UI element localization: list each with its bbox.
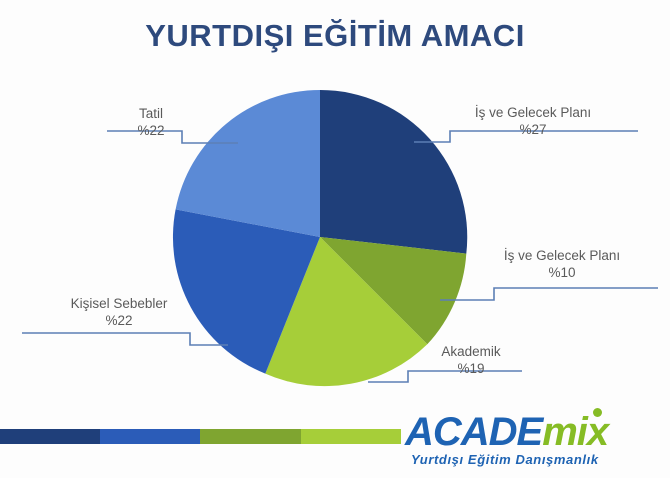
pie-label-kisisel-value: %22 [28,313,210,330]
pie-label-is27-value: %27 [447,122,619,139]
pie-label-kisisel-sebebler: Kişisel Sebebler %22 [28,296,210,329]
pie-label-is10-value: %10 [476,265,648,282]
color-bar-segment-1 [0,429,100,444]
pie-label-tatil-name: Tatil [139,106,163,121]
color-bar-segment-4 [301,429,401,444]
pie-label-akademik-name: Akademik [441,344,500,359]
pie-label-is10-name: İş ve Gelecek Planı [504,248,620,263]
pie-slices [173,90,467,386]
pie-slice-is-ve-gelecek-plani-27[interactable] [320,90,467,254]
color-bar-segment-2 [100,429,200,444]
pie-label-tatil: Tatil %22 [106,106,196,139]
pie-label-tatil-value: %22 [106,123,196,140]
slide-canvas: YURTDIŞI EĞİTİM AMACI [0,0,670,478]
pie-label-akademik: Akademik %19 [396,344,546,377]
logo-word-part1: ACADE [405,410,542,454]
leader-line-kisisel [22,333,228,345]
pie-label-is-ve-gelecek-plani-27: İş ve Gelecek Planı %27 [447,105,619,138]
academix-logo: ACADEmix Yurtdışı Eğitim Danışmanlık [405,410,645,472]
logo-wordmark: ACADEmix [405,410,608,455]
pie-chart [0,0,670,478]
footer-color-bar [0,429,401,444]
pie-label-akademik-value: %19 [396,361,546,378]
pie-label-is-ve-gelecek-plani-10: İş ve Gelecek Planı %10 [476,248,648,281]
pie-label-kisisel-name: Kişisel Sebebler [71,296,168,311]
pie-label-is27-name: İş ve Gelecek Planı [475,105,591,120]
logo-tagline: Yurtdışı Eğitim Danışmanlık [411,452,599,467]
leader-line-is-10 [440,288,658,300]
color-bar-segment-3 [200,429,301,444]
